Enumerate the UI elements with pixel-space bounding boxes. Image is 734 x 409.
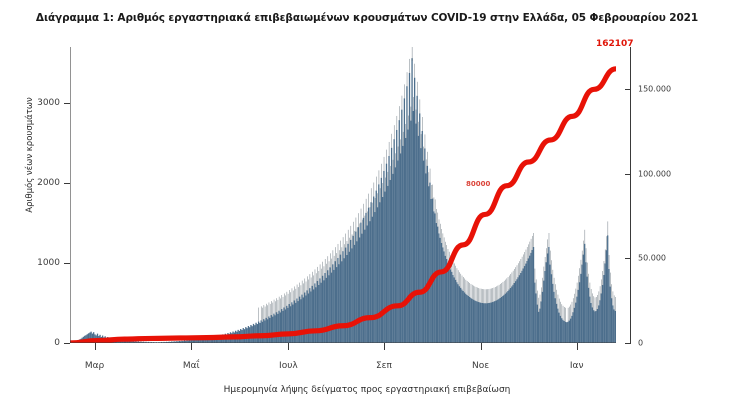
bar-label-stalk <box>494 288 495 302</box>
x-tick-label: Ιαν <box>570 361 584 371</box>
bar <box>399 120 400 343</box>
x-tick-mark <box>95 343 96 350</box>
bar <box>436 223 437 343</box>
bar-label-stalk <box>412 47 413 61</box>
bar-label-stalk <box>441 229 442 243</box>
bar-label-stalk <box>342 247 343 261</box>
bar <box>604 263 605 343</box>
bar-label-stalk <box>458 270 459 284</box>
bar-label-stalk <box>298 287 299 301</box>
bar-label-stalk <box>517 265 518 279</box>
bar <box>538 312 539 343</box>
bar-label-stalk <box>587 263 588 277</box>
bar <box>437 227 438 343</box>
bar <box>258 322 259 343</box>
bar <box>542 292 543 343</box>
bar-label-stalk <box>402 96 403 110</box>
bar-label-stalk <box>280 298 281 312</box>
bar <box>558 313 559 343</box>
bar <box>576 297 577 343</box>
bar-label-stalk <box>513 271 514 285</box>
cumulative-total-annotation: 162107 <box>596 39 634 49</box>
bar <box>372 217 373 343</box>
bar <box>515 281 516 343</box>
bar-label-stalk <box>555 284 556 298</box>
bar <box>278 311 279 343</box>
bar-label-stalk <box>384 157 385 171</box>
bar-label-stalk <box>366 199 367 213</box>
bar-series <box>70 47 616 343</box>
bar <box>550 265 551 343</box>
bar-label-stalk <box>462 276 463 290</box>
bar-label-stalk <box>560 302 561 316</box>
bar-label-stalk <box>579 268 580 282</box>
bar <box>308 293 309 343</box>
bar <box>355 232 356 343</box>
bar-label-stalk <box>538 298 539 312</box>
bar <box>496 300 497 343</box>
bar <box>448 266 449 343</box>
bar <box>286 306 287 343</box>
bar-label-stalk <box>434 197 435 211</box>
bar <box>442 247 443 343</box>
bar <box>282 311 283 343</box>
bar <box>541 301 542 343</box>
bar-label-stalk <box>267 305 268 319</box>
bar <box>488 303 489 343</box>
bar <box>272 317 273 343</box>
bar-label-stalk <box>592 293 593 307</box>
bar-label-stalk <box>514 269 515 283</box>
bar-label-stalk <box>455 266 456 280</box>
bar <box>340 255 341 343</box>
bar-label-stalk <box>503 282 504 296</box>
bar <box>321 283 322 343</box>
bar-label-stalk <box>435 199 436 213</box>
chart-canvas <box>70 47 616 343</box>
bar-label-stalk <box>299 283 300 297</box>
bar <box>441 243 442 343</box>
bar <box>424 148 425 343</box>
bar <box>561 318 562 343</box>
bar-label-stalk <box>554 278 555 292</box>
mid-cumulative-annotation: 80000 <box>466 180 490 188</box>
bar <box>369 221 370 343</box>
bar <box>569 321 570 343</box>
bar-label-stalk <box>582 251 583 265</box>
bar <box>305 295 306 343</box>
bar <box>598 305 599 343</box>
bar-label-stalk <box>477 288 478 302</box>
bar <box>350 240 351 343</box>
bar <box>583 255 584 343</box>
bar-label-stalk <box>588 274 589 288</box>
bar <box>489 303 490 343</box>
bar-label-stalk <box>522 257 523 271</box>
bar <box>287 308 288 343</box>
bar <box>262 322 263 343</box>
bar-label-stalk <box>500 284 501 298</box>
bar <box>495 301 496 343</box>
bar <box>450 269 451 343</box>
bar-label-stalk <box>604 261 605 275</box>
bar <box>519 275 520 343</box>
bar <box>491 302 492 343</box>
bar <box>317 281 318 343</box>
bar <box>336 267 337 343</box>
bar <box>333 270 334 343</box>
bar-label-stalk <box>550 251 551 265</box>
bar-label-stalk <box>597 295 598 309</box>
bar <box>596 311 597 343</box>
x-tick-mark <box>384 343 385 350</box>
bar <box>537 305 538 343</box>
bar <box>300 299 301 343</box>
bar-label-stalk <box>293 291 294 305</box>
bar <box>500 298 501 343</box>
bar <box>349 252 350 343</box>
bar <box>277 314 278 343</box>
bar-label-stalk <box>307 276 308 290</box>
bar-label-stalk <box>602 271 603 285</box>
bar <box>423 161 424 343</box>
bar-label-stalk <box>362 220 363 234</box>
bar-label-stalk <box>278 300 279 314</box>
bar <box>373 197 374 343</box>
bar-label-stalk <box>398 147 399 161</box>
bar-label-stalk <box>508 277 509 291</box>
bar <box>512 285 513 343</box>
bar <box>606 250 607 343</box>
y-tick-label: 1000 <box>37 258 60 268</box>
x-axis: ΜαρΜαΐΙουλΣεπΝοεΙαν <box>70 343 616 383</box>
bar-label-stalk <box>349 238 350 252</box>
bar-label-stalk <box>489 289 490 303</box>
bar-label-stalk <box>606 236 607 250</box>
y-tick-label: 2000 <box>37 178 60 188</box>
bar <box>299 297 300 343</box>
bar-label-stalk <box>285 295 286 309</box>
x-tick-label: Ιουλ <box>279 361 298 371</box>
bar <box>392 174 393 343</box>
bar <box>465 294 466 343</box>
bar-label-stalk <box>549 233 550 247</box>
bar-label-stalk <box>294 286 295 300</box>
bar-label-stalk <box>381 164 382 178</box>
bar <box>359 237 360 343</box>
bar-label-stalk <box>427 152 428 166</box>
bar <box>564 321 565 343</box>
bar <box>295 303 296 343</box>
bar-label-stalk <box>544 267 545 281</box>
x-tick-mark <box>191 343 192 350</box>
bar-label-stalk <box>421 134 422 148</box>
bar <box>475 301 476 343</box>
bar <box>555 298 556 343</box>
bar-label-stalk <box>490 289 491 303</box>
bar-label-stalk <box>546 248 547 262</box>
bar <box>579 282 580 343</box>
bar-label-stalk <box>532 236 533 250</box>
bar <box>544 271 545 343</box>
bar-label-stalk <box>475 286 476 300</box>
bar <box>530 253 531 343</box>
bar-label-stalk <box>569 307 570 321</box>
bar-label-stalk <box>382 183 383 197</box>
bar-label-stalk <box>284 293 285 307</box>
bar-label-stalk <box>371 188 372 202</box>
bar <box>483 303 484 343</box>
bar-label-stalk <box>527 247 528 261</box>
bar-label-stalk <box>281 295 282 309</box>
bar <box>602 285 603 343</box>
bar <box>296 299 297 343</box>
bar-label-stalk <box>469 283 470 297</box>
bar <box>580 274 581 343</box>
bar-label-stalk <box>389 142 390 156</box>
bar <box>573 312 574 343</box>
bar-label-stalk <box>476 287 477 301</box>
bar-label-stalk <box>578 276 579 290</box>
bar-label-stalk <box>352 234 353 248</box>
bar <box>310 291 311 343</box>
bar <box>478 302 479 343</box>
bar-label-stalk <box>423 147 424 161</box>
bar-label-stalk <box>472 285 473 299</box>
bar-label-stalk <box>576 289 577 303</box>
bar-label-stalk <box>343 237 344 251</box>
bar-label-stalk <box>336 253 337 267</box>
bar-label-stalk <box>359 223 360 237</box>
bar-label-stalk <box>407 72 408 86</box>
bar <box>381 178 382 343</box>
bar <box>470 298 471 343</box>
bar-label-stalk <box>510 274 511 288</box>
bar-label-stalk <box>269 302 270 316</box>
bar-label-stalk <box>374 183 375 197</box>
bar <box>276 312 277 343</box>
bar <box>534 283 535 343</box>
bar <box>417 96 418 343</box>
y-tick-label: 0 <box>54 338 60 348</box>
bar-label-stalk <box>526 250 527 264</box>
bar-label-stalk <box>454 263 455 277</box>
bar <box>575 303 576 343</box>
bar-label-stalk <box>460 274 461 288</box>
bar <box>603 275 604 343</box>
bar-label-stalk <box>611 284 612 298</box>
bar-label-stalk <box>467 281 468 295</box>
y-tick-label: 3000 <box>37 98 60 108</box>
bar-label-stalk <box>459 272 460 286</box>
bar-label-stalk <box>468 282 469 296</box>
bar <box>431 199 432 343</box>
bar <box>429 183 430 343</box>
bar-label-stalk <box>347 241 348 255</box>
bar-label-stalk <box>322 262 323 276</box>
bar-label-stalk <box>485 289 486 303</box>
bar <box>345 248 346 343</box>
bar <box>585 262 586 343</box>
bar <box>259 323 260 343</box>
bar-label-stalk <box>448 249 449 263</box>
bar <box>425 173 426 343</box>
bar-label-stalk <box>610 273 611 287</box>
bar <box>456 282 457 343</box>
bar <box>332 264 333 343</box>
bar-label-stalk <box>536 279 537 293</box>
bar-label-stalk <box>339 250 340 264</box>
bar-label-stalk <box>353 222 354 236</box>
bar <box>613 309 614 343</box>
bar-label-stalk <box>547 239 548 253</box>
bar <box>601 293 602 343</box>
bar <box>394 139 395 343</box>
bar-label-stalk <box>541 287 542 301</box>
bar <box>432 199 433 343</box>
bar-label-stalk <box>445 242 446 256</box>
bar <box>328 275 329 343</box>
bar-label-stalk <box>409 59 410 73</box>
bar <box>323 280 324 343</box>
bar-label-stalk <box>274 300 275 314</box>
bar-label-stalk <box>385 178 386 192</box>
bar <box>304 293 305 343</box>
bar <box>474 300 475 343</box>
bar-label-stalk <box>329 261 330 275</box>
bar-label-stalk <box>528 244 529 258</box>
bar-label-stalk <box>422 117 423 131</box>
bar-label-stalk <box>290 292 291 306</box>
bar <box>443 251 444 343</box>
bar-label-stalk <box>292 288 293 302</box>
bar <box>374 212 375 343</box>
bar <box>388 156 389 343</box>
bar <box>341 261 342 343</box>
bar <box>607 235 608 343</box>
bar <box>362 234 363 343</box>
bar-label-stalk <box>271 301 272 315</box>
bar <box>397 161 398 343</box>
bar-label-stalk <box>390 166 391 180</box>
bar-label-stalk <box>473 286 474 300</box>
bar <box>376 191 377 343</box>
bar-label-stalk <box>325 259 326 273</box>
y2-tick-mark <box>625 174 631 175</box>
bar-label-stalk <box>327 256 328 270</box>
bar-label-stalk <box>316 273 317 287</box>
bar-label-stalk <box>264 305 265 319</box>
bar-label-stalk <box>504 281 505 295</box>
bar <box>523 268 524 343</box>
bar-label-stalk <box>599 291 600 305</box>
bar <box>391 148 392 343</box>
bar <box>452 275 453 343</box>
bar <box>385 192 386 343</box>
bar <box>292 305 293 343</box>
bar-label-stalk <box>408 116 409 130</box>
bar-label-stalk <box>320 264 321 278</box>
bar <box>557 309 558 343</box>
bar <box>592 307 593 343</box>
bar <box>503 295 504 343</box>
bar-label-stalk <box>614 295 615 309</box>
bar <box>356 241 357 343</box>
bar <box>377 207 378 343</box>
bar <box>571 316 572 343</box>
bar-label-stalk <box>399 106 400 120</box>
bar-label-stalk <box>530 242 531 256</box>
right-axis-spine <box>630 47 631 343</box>
bar-label-stalk <box>279 297 280 311</box>
bar <box>584 244 585 343</box>
bar-label-stalk <box>331 259 332 273</box>
bar <box>358 227 359 343</box>
bar-label-stalk <box>498 286 499 300</box>
plot-area <box>70 47 616 343</box>
bar <box>367 225 368 343</box>
bar <box>505 294 506 343</box>
bar-label-stalk <box>481 289 482 303</box>
bar-label-stalk <box>596 297 597 311</box>
bar <box>401 110 402 343</box>
bar-label-stalk <box>561 304 562 318</box>
bar <box>266 318 267 343</box>
left-axis-label: Αριθμός νέων κρουσμάτων <box>25 65 35 245</box>
bar-label-stalk <box>301 285 302 299</box>
bar <box>518 277 519 343</box>
bar-label-stalk <box>518 263 519 277</box>
bar <box>479 302 480 343</box>
bar <box>461 290 462 343</box>
bar-label-stalk <box>601 279 602 293</box>
bar-label-stalk <box>482 289 483 303</box>
x-tick-label: Νοε <box>472 361 489 371</box>
bar <box>411 58 412 343</box>
bar <box>464 292 465 343</box>
bar <box>396 130 397 343</box>
left-axis: Αριθμός νέων κρουσμάτων 0100020003000 <box>0 40 70 352</box>
bar-label-stalk <box>377 193 378 207</box>
bar-label-stalk <box>372 203 373 217</box>
bar <box>589 297 590 343</box>
bar-label-stalk <box>487 289 488 303</box>
bar <box>556 304 557 343</box>
bar-label-stalk <box>457 268 458 282</box>
bar-label-stalk <box>272 303 273 317</box>
bar-label-stalk <box>345 234 346 248</box>
bar-label-stalk <box>565 308 566 322</box>
bar <box>466 295 467 343</box>
bar-label-stalk <box>563 306 564 320</box>
bar-label-stalk <box>289 290 290 304</box>
bar-label-stalk <box>446 245 447 259</box>
bar <box>354 245 355 343</box>
bar-label-stalk <box>375 198 376 212</box>
bar <box>482 303 483 343</box>
bar-label-stalk <box>367 211 368 225</box>
bar <box>418 136 419 343</box>
bar-label-stalk <box>403 132 404 146</box>
bar <box>386 164 387 343</box>
bar <box>565 322 566 343</box>
bar-label-stalk <box>436 209 437 223</box>
bar <box>543 281 544 343</box>
bar-label-stalk <box>486 289 487 303</box>
bar <box>457 284 458 343</box>
bar-label-stalk <box>584 230 585 244</box>
bar <box>463 291 464 343</box>
